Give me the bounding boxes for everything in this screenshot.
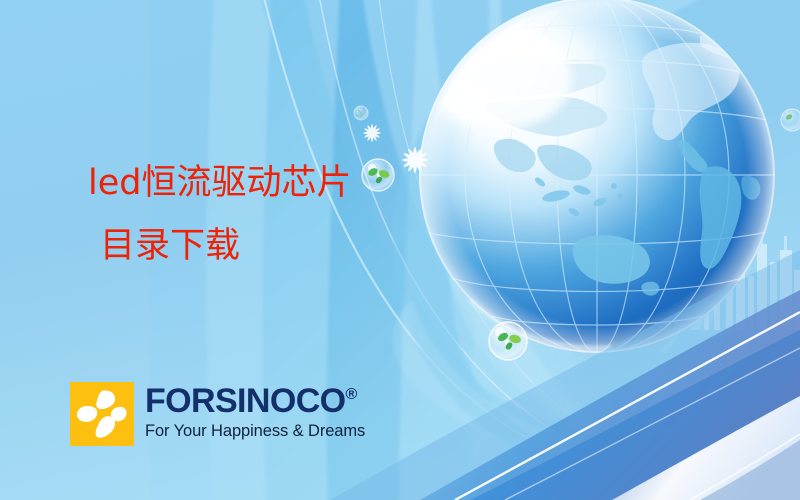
logo-wordmark: FORSINOCO®: [145, 384, 365, 418]
bubble-small-icon: [781, 109, 800, 131]
logo-wordmark-text: FORSINOCO: [145, 382, 346, 420]
four-petal-pinwheel-icon: [70, 382, 134, 446]
logo-tagline: For Your Happiness & Dreams: [145, 423, 365, 440]
logo-mark: [70, 382, 134, 446]
logo-text-block: FORSINOCO® For Your Happiness & Dreams: [145, 382, 365, 440]
promo-banner: led恒流驱动芯片 目录下载 FORSINOCO® For Your Happi…: [0, 0, 800, 500]
headline-line-2: 目录下载: [100, 229, 351, 264]
company-logo[interactable]: FORSINOCO® For Your Happiness & Dreams: [70, 382, 365, 446]
banner-headline: led恒流驱动芯片 目录下载: [88, 166, 351, 264]
headline-line-1: led恒流驱动芯片: [88, 163, 351, 203]
registered-trademark-symbol: ®: [346, 386, 358, 403]
bubble-small-icon: [354, 106, 368, 120]
